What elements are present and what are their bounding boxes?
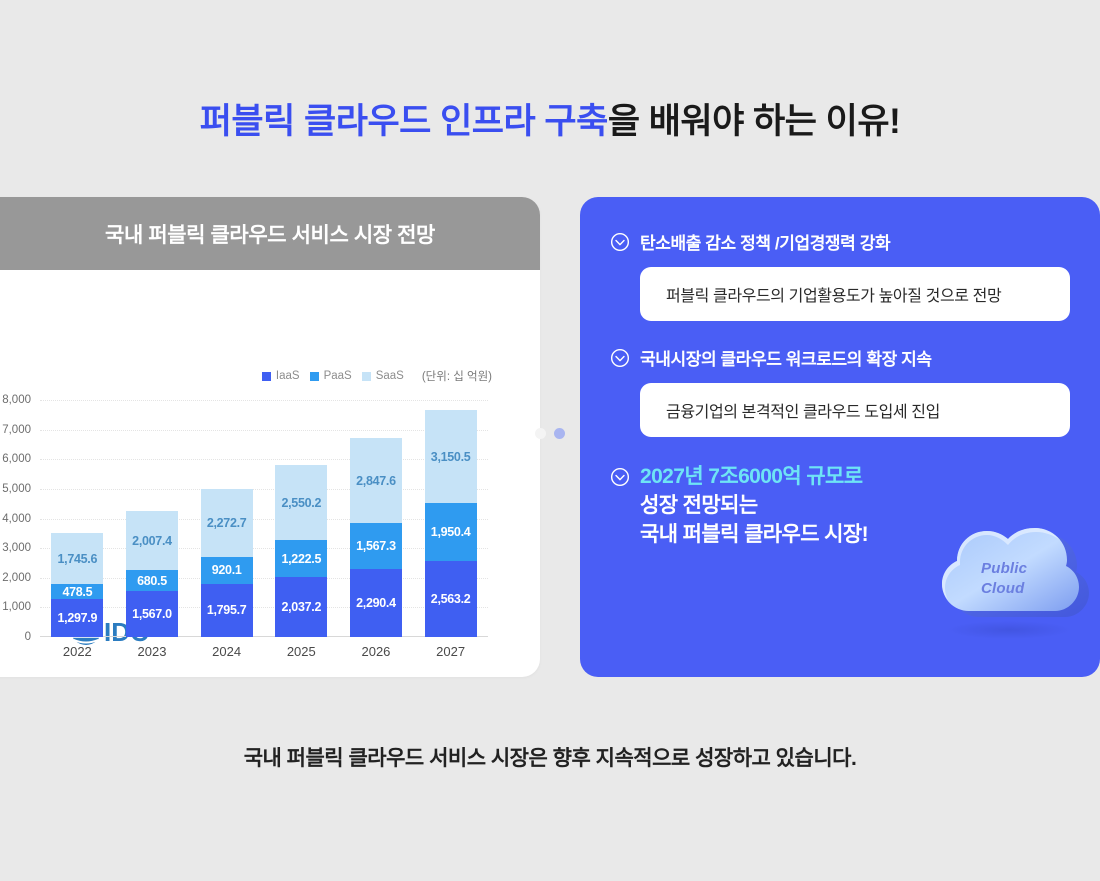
cloud-label-line1: Public [981,559,1027,579]
x-axis-labels: 2022 2023 2024 2025 2026 2027 [40,644,488,659]
legend-swatch-paas [310,372,319,381]
bar-segment-paas-2027: 1,950.4 [425,503,477,561]
info-final-line1: 2027년 7조6000억 규모로 [640,463,868,492]
info-item-1-heading: 탄소배출 감소 정책 /기업경쟁력 강화 [640,229,890,254]
bar-segment-saas-2025: 2,550.2 [275,465,327,541]
legend-label-iaas: IaaS [276,370,300,382]
bar-segment-iaas-2026: 2,290.4 [350,569,402,637]
page-title-accent: 퍼블릭 클라우드 인프라 구축 [200,102,608,141]
carousel-dot-2[interactable] [554,428,565,439]
x-tick-2022: 2022 [51,644,103,659]
legend-swatch-saas [362,372,371,381]
bar-column-2026: 2,847.6 1,567.3 2,290.4 [350,400,402,637]
bottom-caption: 국내 퍼블릭 클라우드 서비스 시장은 향후 지속적으로 성장하고 있습니다. [0,742,1100,772]
y-tick-8000: 8,000 [2,394,31,406]
slide-root: 퍼블릭 클라우드 인프라 구축을 배워야 하는 이유! 국내 퍼블릭 클라우드 … [0,0,1100,881]
page-title-plain: 을 배워야 하는 이유! [608,102,900,141]
info-item-2-detail: 금융기업의 본격적인 클라우드 도입세 진입 [666,398,940,422]
y-tick-4000: 4,000 [2,513,31,525]
public-cloud-graphic: Public Cloud [917,512,1092,642]
chart-card-header: 국내 퍼블릭 클라우드 서비스 시장 전망 [0,197,540,270]
page-title: 퍼블릭 클라우드 인프라 구축을 배워야 하는 이유! [0,93,1100,144]
y-tick-5000: 5,000 [2,483,31,495]
carousel-dot-1[interactable] [535,428,546,439]
legend-item-iaas: IaaS [262,370,300,382]
legend-label-paas: PaaS [324,370,352,382]
check-circle-icon [610,348,630,368]
x-tick-2026: 2026 [350,644,402,659]
chart-body: IaaS PaaS SaaS (단위: 십 억원) [0,270,540,677]
info-item-1-heading-row: 탄소배출 감소 정책 /기업경쟁력 강화 [610,229,1070,254]
info-item-2-heading: 국내시장의 클라우드 워크로드의 확장 지속 [640,345,932,370]
bar-segment-saas-2022: 1,745.6 [51,533,103,585]
bar-column-2022: 1,745.6 478.5 1,297.9 [51,400,103,637]
bar-column-2025: 2,550.2 1,222.5 2,037.2 [275,400,327,637]
legend-item-saas: SaaS [362,370,404,382]
bar-column-2023: 2,007.4 680.5 1,567.0 [126,400,178,637]
check-circle-icon [610,232,630,252]
x-tick-2023: 2023 [126,644,178,659]
info-item-2-heading-row: 국내시장의 클라우드 워크로드의 확장 지속 [610,345,1070,370]
bar-segment-saas-2023: 2,007.4 [126,511,178,571]
chart-card-title: 국내 퍼블릭 클라우드 서비스 시장 전망 [105,219,435,249]
info-item-1-detail-box: 퍼블릭 클라우드의 기업활용도가 높아질 것으로 전망 [640,267,1070,321]
legend-label-saas: SaaS [376,370,404,382]
bar-segment-saas-2024: 2,272.7 [201,489,253,556]
x-tick-2027: 2027 [425,644,477,659]
x-tick-2024: 2024 [201,644,253,659]
bar-segment-iaas-2024: 1,795.7 [201,584,253,637]
bar-group: 1,745.6 478.5 1,297.9 2,007.4 680.5 1,56… [40,400,488,637]
cloud-label: Public Cloud [981,559,1027,600]
y-tick-7000: 7,000 [2,424,31,436]
y-tick-2000: 2,000 [2,572,31,584]
carousel-dots[interactable] [535,428,565,439]
cloud-label-line2: Cloud [981,579,1027,599]
chart-unit-note: (단위: 십 억원) [422,368,492,384]
y-tick-3000: 3,000 [2,542,31,554]
chart-plot-area: 8,000 7,000 6,000 5,000 4,000 3,000 2,00… [40,400,488,637]
y-tick-1000: 1,000 [2,601,31,613]
bar-segment-paas-2026: 1,567.3 [350,523,402,569]
bar-segment-paas-2023: 680.5 [126,570,178,590]
chart-legend: IaaS PaaS SaaS (단위: 십 억원) [0,368,522,384]
y-tick-6000: 6,000 [2,453,31,465]
check-circle-icon [610,467,630,487]
chart-card: 국내 퍼블릭 클라우드 서비스 시장 전망 IaaS PaaS SaaS (단위… [0,197,540,677]
bar-segment-iaas-2023: 1,567.0 [126,591,178,637]
bar-segment-paas-2022: 478.5 [51,584,103,598]
bar-segment-saas-2026: 2,847.6 [350,438,402,522]
info-final-line2: 성장 전망되는 [640,492,868,521]
spacer-1 [610,321,1070,345]
bar-column-2024: 2,272.7 920.1 1,795.7 [201,400,253,637]
bar-segment-saas-2027: 3,150.5 [425,410,477,503]
bar-segment-iaas-2025: 2,037.2 [275,577,327,637]
info-final-line3: 국내 퍼블릭 클라우드 시장! [640,521,868,550]
x-tick-2025: 2025 [275,644,327,659]
bar-segment-iaas-2027: 2,563.2 [425,561,477,637]
bar-segment-paas-2025: 1,222.5 [275,540,327,576]
info-item-2-detail-box: 금융기업의 본격적인 클라우드 도입세 진입 [640,383,1070,437]
legend-item-paas: PaaS [310,370,352,382]
info-panel: 탄소배출 감소 정책 /기업경쟁력 강화 퍼블릭 클라우드의 기업활용도가 높아… [580,197,1100,677]
bar-segment-iaas-2022: 1,297.9 [51,599,103,637]
legend-swatch-iaas [262,372,271,381]
bar-column-2027: 3,150.5 1,950.4 2,563.2 [425,400,477,637]
y-tick-0: 0 [25,631,31,643]
info-item-1-detail: 퍼블릭 클라우드의 기업활용도가 높아질 것으로 전망 [666,282,1001,306]
info-final-text: 2027년 7조6000억 규모로 성장 전망되는 국내 퍼블릭 클라우드 시장… [640,463,868,550]
bar-segment-paas-2024: 920.1 [201,557,253,584]
